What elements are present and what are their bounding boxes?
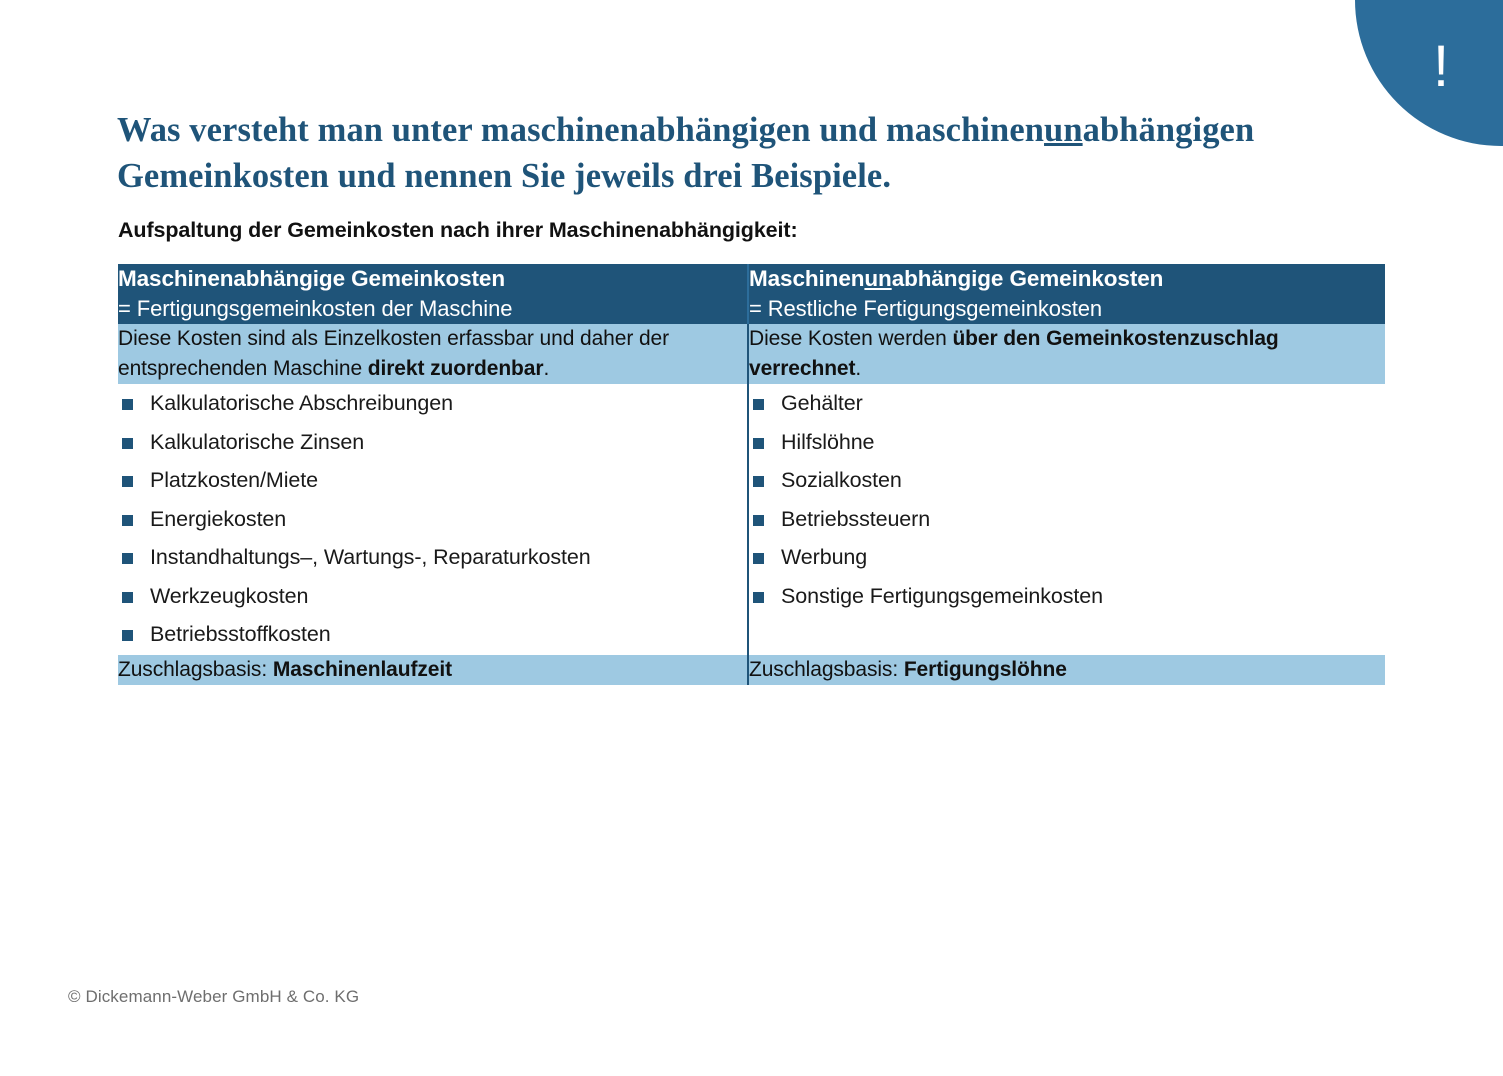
list-item: Hilfslöhne <box>749 423 1385 462</box>
list-item-label: Gehälter <box>781 391 863 415</box>
square-bullet-icon <box>753 592 764 603</box>
list-item: Gehälter <box>749 384 1385 423</box>
table-items-row: Kalkulatorische AbschreibungenKalkulator… <box>118 384 1385 654</box>
list-item: Betriebssteuern <box>749 500 1385 539</box>
list-item: Kalkulatorische Zinsen <box>118 423 747 462</box>
surcharge-base-cell-right: Zuschlagsbasis: Fertigungslöhne <box>748 654 1385 685</box>
header-title-left: Maschinenabhängige Gemeinkosten <box>118 264 747 294</box>
list-item-label: Sonstige Fertigungsgemeinkosten <box>781 584 1103 608</box>
surcharge-base-label-right: Zuschlagsbasis: <box>749 658 904 681</box>
list-item: Sonstige Fertigungsgemeinkosten <box>749 577 1385 616</box>
items-cell-left: Kalkulatorische AbschreibungenKalkulator… <box>118 384 748 654</box>
list-item: Werkzeugkosten <box>118 577 747 616</box>
table-surcharge-base-row: Zuschlagsbasis: Maschinenlaufzeit Zuschl… <box>118 654 1385 685</box>
description-left-bold: direkt zuordenbar <box>368 357 544 380</box>
list-item-label: Sozialkosten <box>781 468 902 492</box>
header-title-right-after: abhängige Gemeinkosten <box>892 266 1164 291</box>
table-header-row: Maschinenabhängige Gemeinkosten = Fertig… <box>118 264 1385 324</box>
square-bullet-icon <box>122 515 133 526</box>
description-right-normal: Diese Kosten werden <box>749 327 952 350</box>
section-subheading: Aufspaltung der Gemeinkosten nach ihrer … <box>118 218 798 243</box>
square-bullet-icon <box>122 630 133 641</box>
header-subtitle-left: = Fertigungsgemeinkosten der Maschine <box>118 294 747 324</box>
list-item-label: Instandhaltungs–, Wartungs-, Reparaturko… <box>150 545 591 569</box>
description-right-tail: . <box>855 357 861 380</box>
items-list-left: Kalkulatorische AbschreibungenKalkulator… <box>118 384 747 654</box>
description-cell-right: Diese Kosten werden über den Gemeinkoste… <box>748 324 1385 384</box>
square-bullet-icon <box>753 438 764 449</box>
list-item-label: Hilfslöhne <box>781 430 874 454</box>
table-description-row: Diese Kosten sind als Einzelkosten erfas… <box>118 324 1385 384</box>
square-bullet-icon <box>122 476 133 487</box>
square-bullet-icon <box>753 515 764 526</box>
list-item-label: Betriebssteuern <box>781 507 930 531</box>
list-item: Platzkosten/Miete <box>118 461 747 500</box>
square-bullet-icon <box>753 476 764 487</box>
list-item: Sozialkosten <box>749 461 1385 500</box>
surcharge-base-label-left: Zuschlagsbasis: <box>118 658 273 681</box>
list-item: Energiekosten <box>118 500 747 539</box>
table-header-cell-machine-independent: Maschinenunabhängige Gemeinkosten = Rest… <box>748 264 1385 324</box>
header-title-right: Maschinenunabhängige Gemeinkosten <box>749 264 1385 294</box>
list-item-label: Kalkulatorische Zinsen <box>150 430 364 454</box>
page-title-line1-after: abhängigen <box>1083 111 1255 149</box>
list-item-label: Kalkulatorische Abschreibungen <box>150 391 453 415</box>
header-subtitle-right: = Restliche Fertigungsgemeinkosten <box>749 294 1385 324</box>
square-bullet-icon <box>753 399 764 410</box>
square-bullet-icon <box>753 553 764 564</box>
overhead-cost-table: Maschinenabhängige Gemeinkosten = Fertig… <box>118 264 1385 685</box>
list-item-label: Werbung <box>781 545 867 569</box>
corner-accent-badge: ! <box>1355 0 1503 146</box>
surcharge-base-value-left: Maschinenlaufzeit <box>273 658 452 681</box>
list-item-label: Werkzeugkosten <box>150 584 308 608</box>
table-header-cell-machine-dependent: Maschinenabhängige Gemeinkosten = Fertig… <box>118 264 748 324</box>
exclamation-icon: ! <box>1433 38 1449 96</box>
page-title: Was versteht man unter maschinenabhängig… <box>117 107 1357 199</box>
list-item: Betriebsstoffkosten <box>118 615 747 654</box>
footer-copyright: © Dickemann-Weber GmbH & Co. KG <box>68 987 359 1007</box>
header-title-right-underline: un <box>864 266 891 291</box>
description-cell-left: Diese Kosten sind als Einzelkosten erfas… <box>118 324 748 384</box>
items-list-right: GehälterHilfslöhneSozialkostenBetriebsst… <box>749 384 1385 615</box>
list-item-label: Betriebsstoffkosten <box>150 622 331 646</box>
header-title-right-before: Maschinen <box>749 266 864 291</box>
square-bullet-icon <box>122 399 133 410</box>
list-item: Werbung <box>749 538 1385 577</box>
items-cell-right: GehälterHilfslöhneSozialkostenBetriebsst… <box>748 384 1385 654</box>
page-title-line1-underline: un <box>1044 111 1083 149</box>
list-item-label: Energiekosten <box>150 507 286 531</box>
square-bullet-icon <box>122 438 133 449</box>
page-title-line1-before: Was versteht man unter maschinenabhängig… <box>117 111 1044 149</box>
surcharge-base-cell-left: Zuschlagsbasis: Maschinenlaufzeit <box>118 654 748 685</box>
square-bullet-icon <box>122 592 133 603</box>
surcharge-base-value-right: Fertigungslöhne <box>904 658 1067 681</box>
list-item: Kalkulatorische Abschreibungen <box>118 384 747 423</box>
list-item: Instandhaltungs–, Wartungs-, Reparaturko… <box>118 538 747 577</box>
square-bullet-icon <box>122 553 133 564</box>
list-item-label: Platzkosten/Miete <box>150 468 318 492</box>
page-title-line2: Gemeinkosten und nennen Sie jeweils drei… <box>117 157 891 195</box>
description-left-tail: . <box>543 357 549 380</box>
